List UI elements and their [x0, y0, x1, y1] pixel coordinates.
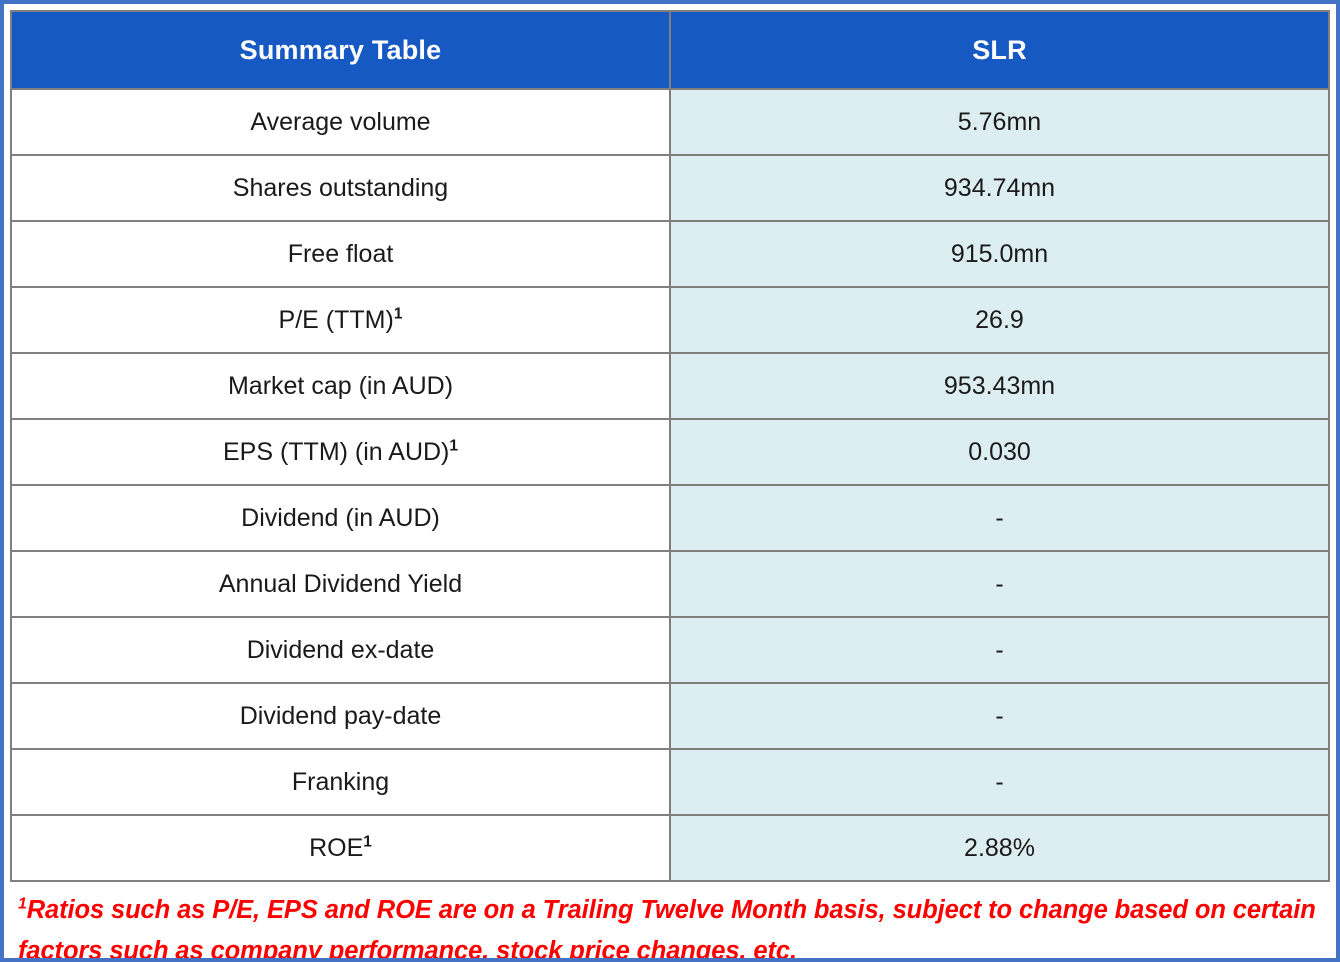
summary-table-page: Summary Table SLR Average volume5.76mnSh… [0, 0, 1340, 962]
row-value-cell: 26.9 [670, 287, 1329, 353]
row-value-cell: 2.88% [670, 815, 1329, 881]
row-value-text: - [995, 702, 1003, 730]
row-label-cell: Franking [11, 749, 670, 815]
row-value-text: 915.0mn [951, 240, 1048, 268]
row-value-cell: 915.0mn [670, 221, 1329, 287]
footnote-marker: 1 [18, 896, 27, 913]
table-row: Dividend ex-date- [11, 617, 1329, 683]
row-value-text: - [995, 636, 1003, 664]
row-label-cell: EPS (TTM) (in AUD)1 [11, 419, 670, 485]
row-label-text: Dividend pay-date [240, 702, 442, 730]
row-value-cell: - [670, 683, 1329, 749]
row-value-cell: - [670, 617, 1329, 683]
row-label-cell: Shares outstanding [11, 155, 670, 221]
table-row: Free float915.0mn [11, 221, 1329, 287]
row-label-text: Annual Dividend Yield [219, 570, 462, 598]
row-value-text: - [995, 504, 1003, 532]
row-value-text: 5.76mn [958, 108, 1041, 136]
row-label-text: ROE [309, 834, 363, 862]
row-label-cell: P/E (TTM)1 [11, 287, 670, 353]
table-row: EPS (TTM) (in AUD)10.030 [11, 419, 1329, 485]
table-row: Franking- [11, 749, 1329, 815]
row-value-text: 953.43mn [944, 372, 1055, 400]
row-label-text: Free float [288, 240, 394, 268]
row-label-superscript: 1 [394, 305, 403, 322]
row-label-superscript: 1 [449, 437, 458, 454]
row-value-text: - [995, 768, 1003, 796]
row-label-cell: Dividend ex-date [11, 617, 670, 683]
row-value-text: 0.030 [968, 438, 1031, 466]
row-label-cell: ROE1 [11, 815, 670, 881]
row-label-cell: Annual Dividend Yield [11, 551, 670, 617]
row-label-cell: Average volume [11, 89, 670, 155]
table-row: Shares outstanding934.74mn [11, 155, 1329, 221]
header-row: Summary Table SLR [11, 11, 1329, 89]
footnote: 1Ratios such as P/E, EPS and ROE are on … [10, 882, 1330, 962]
page-inner: Summary Table SLR Average volume5.76mnSh… [4, 4, 1336, 958]
row-label-text: P/E (TTM) [279, 306, 394, 334]
row-value-cell: - [670, 749, 1329, 815]
table-header: Summary Table SLR [11, 11, 1329, 89]
row-label-text: Average volume [250, 108, 430, 136]
row-value-text: 934.74mn [944, 174, 1055, 202]
row-value-cell: 953.43mn [670, 353, 1329, 419]
table-row: Market cap (in AUD)953.43mn [11, 353, 1329, 419]
row-label-superscript: 1 [363, 833, 372, 850]
row-label-text: EPS (TTM) (in AUD) [223, 438, 449, 466]
row-value-cell: 5.76mn [670, 89, 1329, 155]
row-label-cell: Dividend (in AUD) [11, 485, 670, 551]
row-value-text: 2.88% [964, 834, 1035, 862]
row-label-text: Dividend (in AUD) [241, 504, 440, 532]
row-label-text: Shares outstanding [233, 174, 448, 202]
row-label-cell: Free float [11, 221, 670, 287]
table-body: Average volume5.76mnShares outstanding93… [11, 89, 1329, 881]
header-cell-summary-table: Summary Table [11, 11, 670, 89]
footnote-text: Ratios such as P/E, EPS and ROE are on a… [18, 896, 1316, 962]
table-row: Dividend (in AUD)- [11, 485, 1329, 551]
row-value-cell: 0.030 [670, 419, 1329, 485]
table-row: P/E (TTM)126.9 [11, 287, 1329, 353]
table-row: Dividend pay-date- [11, 683, 1329, 749]
table-row: Average volume5.76mn [11, 89, 1329, 155]
row-value-text: 26.9 [975, 306, 1024, 334]
row-label-text: Market cap (in AUD) [228, 372, 453, 400]
row-label-cell: Market cap (in AUD) [11, 353, 670, 419]
summary-table: Summary Table SLR Average volume5.76mnSh… [10, 10, 1330, 882]
row-label-text: Dividend ex-date [247, 636, 435, 664]
table-row: Annual Dividend Yield- [11, 551, 1329, 617]
table-row: ROE12.88% [11, 815, 1329, 881]
row-value-cell: - [670, 485, 1329, 551]
row-label-cell: Dividend pay-date [11, 683, 670, 749]
row-value-cell: 934.74mn [670, 155, 1329, 221]
row-value-cell: - [670, 551, 1329, 617]
row-label-text: Franking [292, 768, 389, 796]
row-value-text: - [995, 570, 1003, 598]
header-cell-slr: SLR [670, 11, 1329, 89]
